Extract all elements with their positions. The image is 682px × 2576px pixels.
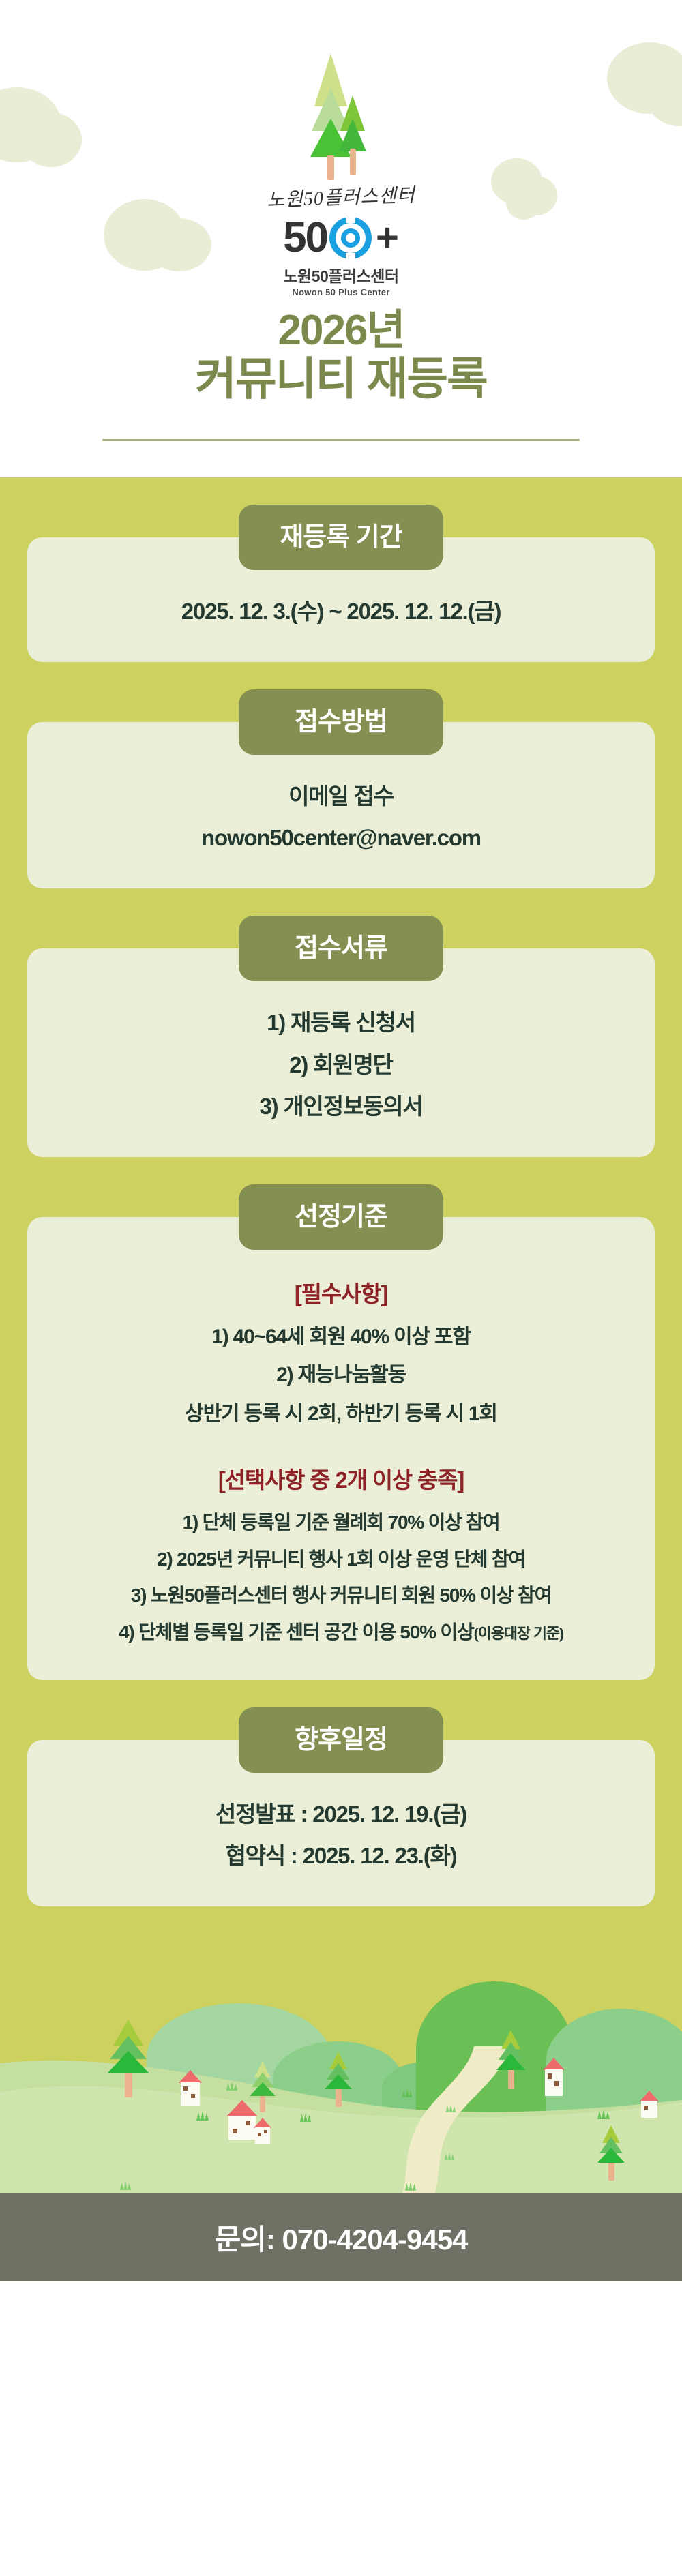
section-line: 2025. 12. 3.(수) ~ 2025. 12. 12.(금): [48, 590, 634, 632]
pine-tree-icon: [496, 2030, 525, 2089]
grass-icon: [195, 2111, 210, 2121]
required-group-heading: [필수사항]: [48, 1270, 634, 1318]
title-line-1: 2026년: [278, 307, 404, 354]
email-address[interactable]: nowon50center@naver.com: [48, 817, 634, 858]
pine-tree-icon: [325, 2052, 352, 2107]
logo-number: 50: [283, 217, 327, 259]
list-item: 2) 재능나눔활동: [48, 1356, 634, 1395]
grass-icon: [225, 2082, 239, 2091]
grass-icon: [119, 2181, 132, 2190]
title-divider: [102, 439, 580, 441]
poster-header: 노원50플러스센터 50 + 노원50플러스센터 Nowon 50 Plus C…: [0, 0, 682, 477]
section-badge: 접수방법: [239, 689, 443, 755]
pine-tree-icon: [310, 53, 372, 179]
group-spacer: [48, 1433, 634, 1456]
poster-body: 재등록 기간 2025. 12. 3.(수) ~ 2025. 12. 12.(금…: [0, 477, 682, 2193]
house-icon: [543, 2058, 565, 2096]
cloud-icon: [20, 113, 82, 167]
logo-english-name: Nowon 50 Plus Center: [0, 287, 682, 297]
contact-phone: 문의: 070-4204-9454: [215, 2217, 468, 2258]
section-badge: 선정기준: [239, 1184, 443, 1250]
schedule-item: 선정발표 : 2025. 12. 19.(금): [48, 1793, 634, 1835]
list-item: 2) 2025년 커뮤니티 행사 1회 이상 운영 단체 참여: [48, 1541, 634, 1577]
section-application-method: 접수방법 이메일 접수 nowon50center@naver.com: [27, 689, 655, 888]
list-item: 2) 회원명단: [48, 1044, 634, 1085]
list-item: 3) 개인정보동의서: [48, 1085, 634, 1127]
page-title: 2026년 커뮤니티 재등록: [0, 307, 682, 404]
grass-icon: [401, 2089, 413, 2097]
list-item: 상반기 등록 시 2회, 하반기 등록 시 1회: [48, 1395, 634, 1434]
list-item: 4) 단체별 등록일 기준 센터 공간 이용 50% 이상(이용대장 기준): [48, 1614, 634, 1650]
section-line: 이메일 접수: [48, 775, 634, 817]
schedule-item: 협약식 : 2025. 12. 23.(화): [48, 1835, 634, 1876]
grass-icon: [445, 2104, 457, 2112]
logo-ring-icon: [329, 217, 372, 259]
grass-icon: [299, 2113, 312, 2122]
grass-icon: [443, 2152, 456, 2160]
section-badge: 재등록 기간: [239, 505, 443, 570]
house-icon: [640, 2091, 659, 2118]
list-item: 1) 40~64세 회원 40% 이상 포함: [48, 1318, 634, 1357]
list-item: 1) 단체 등록일 기준 월례회 70% 이상 참여: [48, 1504, 634, 1540]
center-logo: 50 + 노원50플러스센터 Nowon 50 Plus Center: [0, 217, 682, 297]
logo-plus-sign: +: [376, 218, 399, 258]
house-icon: [254, 2118, 271, 2144]
title-line-2: 커뮤니티 재등록: [0, 354, 682, 404]
house-icon: [179, 2070, 202, 2106]
section-upcoming-schedule: 향후일정 선정발표 : 2025. 12. 19.(금) 협약식 : 2025.…: [27, 1707, 655, 1906]
list-item-note: (이용대장 기준): [474, 1625, 563, 1642]
grass-icon: [596, 2110, 611, 2119]
section-registration-period: 재등록 기간 2025. 12. 3.(수) ~ 2025. 12. 12.(금…: [27, 505, 655, 662]
list-item: 1) 재등록 신청서: [48, 1002, 634, 1043]
list-item: 3) 노원50플러스센터 행사 커뮤니티 회원 50% 이상 참여: [48, 1577, 634, 1613]
pine-tree-icon: [597, 2125, 625, 2181]
logo-mark: 50 +: [283, 217, 399, 259]
section-selection-criteria: 선정기준 [필수사항] 1) 40~64세 회원 40% 이상 포함 2) 재능…: [27, 1184, 655, 1680]
poster-footer: 문의: 070-4204-9454: [0, 2193, 682, 2281]
grass-icon: [404, 2182, 417, 2191]
landscape-illustration: [0, 1906, 682, 2193]
section-badge: 향후일정: [239, 1707, 443, 1773]
section-card: [필수사항] 1) 40~64세 회원 40% 이상 포함 2) 재능나눔활동 …: [27, 1217, 655, 1680]
list-item-main: 4) 단체별 등록일 기준 센터 공간 이용 50% 이상: [119, 1621, 474, 1643]
section-required-documents: 접수서류 1) 재등록 신청서 2) 회원명단 3) 개인정보동의서: [27, 916, 655, 1156]
optional-group-heading: [선택사항 중 2개 이상 충족]: [48, 1456, 634, 1504]
section-badge: 접수서류: [239, 916, 443, 981]
pine-tree-icon: [108, 2020, 149, 2097]
logo-korean-name: 노원50플러스센터: [0, 263, 682, 286]
